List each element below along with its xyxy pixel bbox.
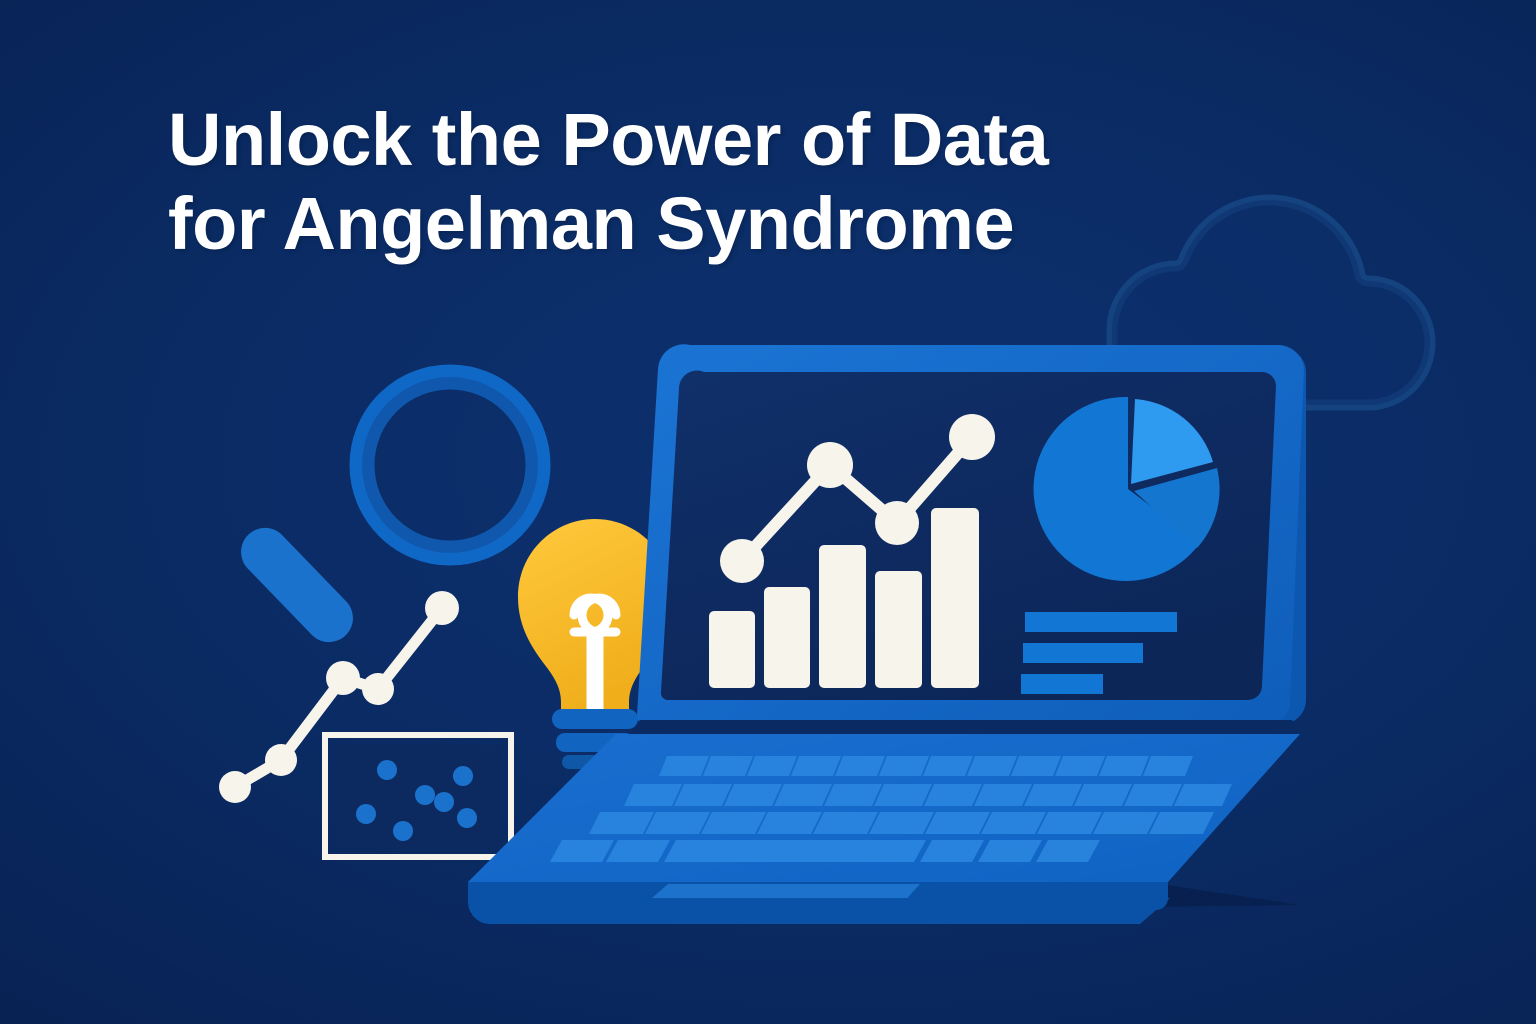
page-title: Unlock the Power of Data for Angelman Sy… (168, 98, 1228, 265)
scatter-plot-icon (325, 735, 511, 857)
magnifying-glass-icon (231, 377, 538, 652)
poster-canvas: Unlock the Power of Data for Angelman Sy… (0, 0, 1536, 1024)
laptop-screen (637, 344, 1306, 724)
